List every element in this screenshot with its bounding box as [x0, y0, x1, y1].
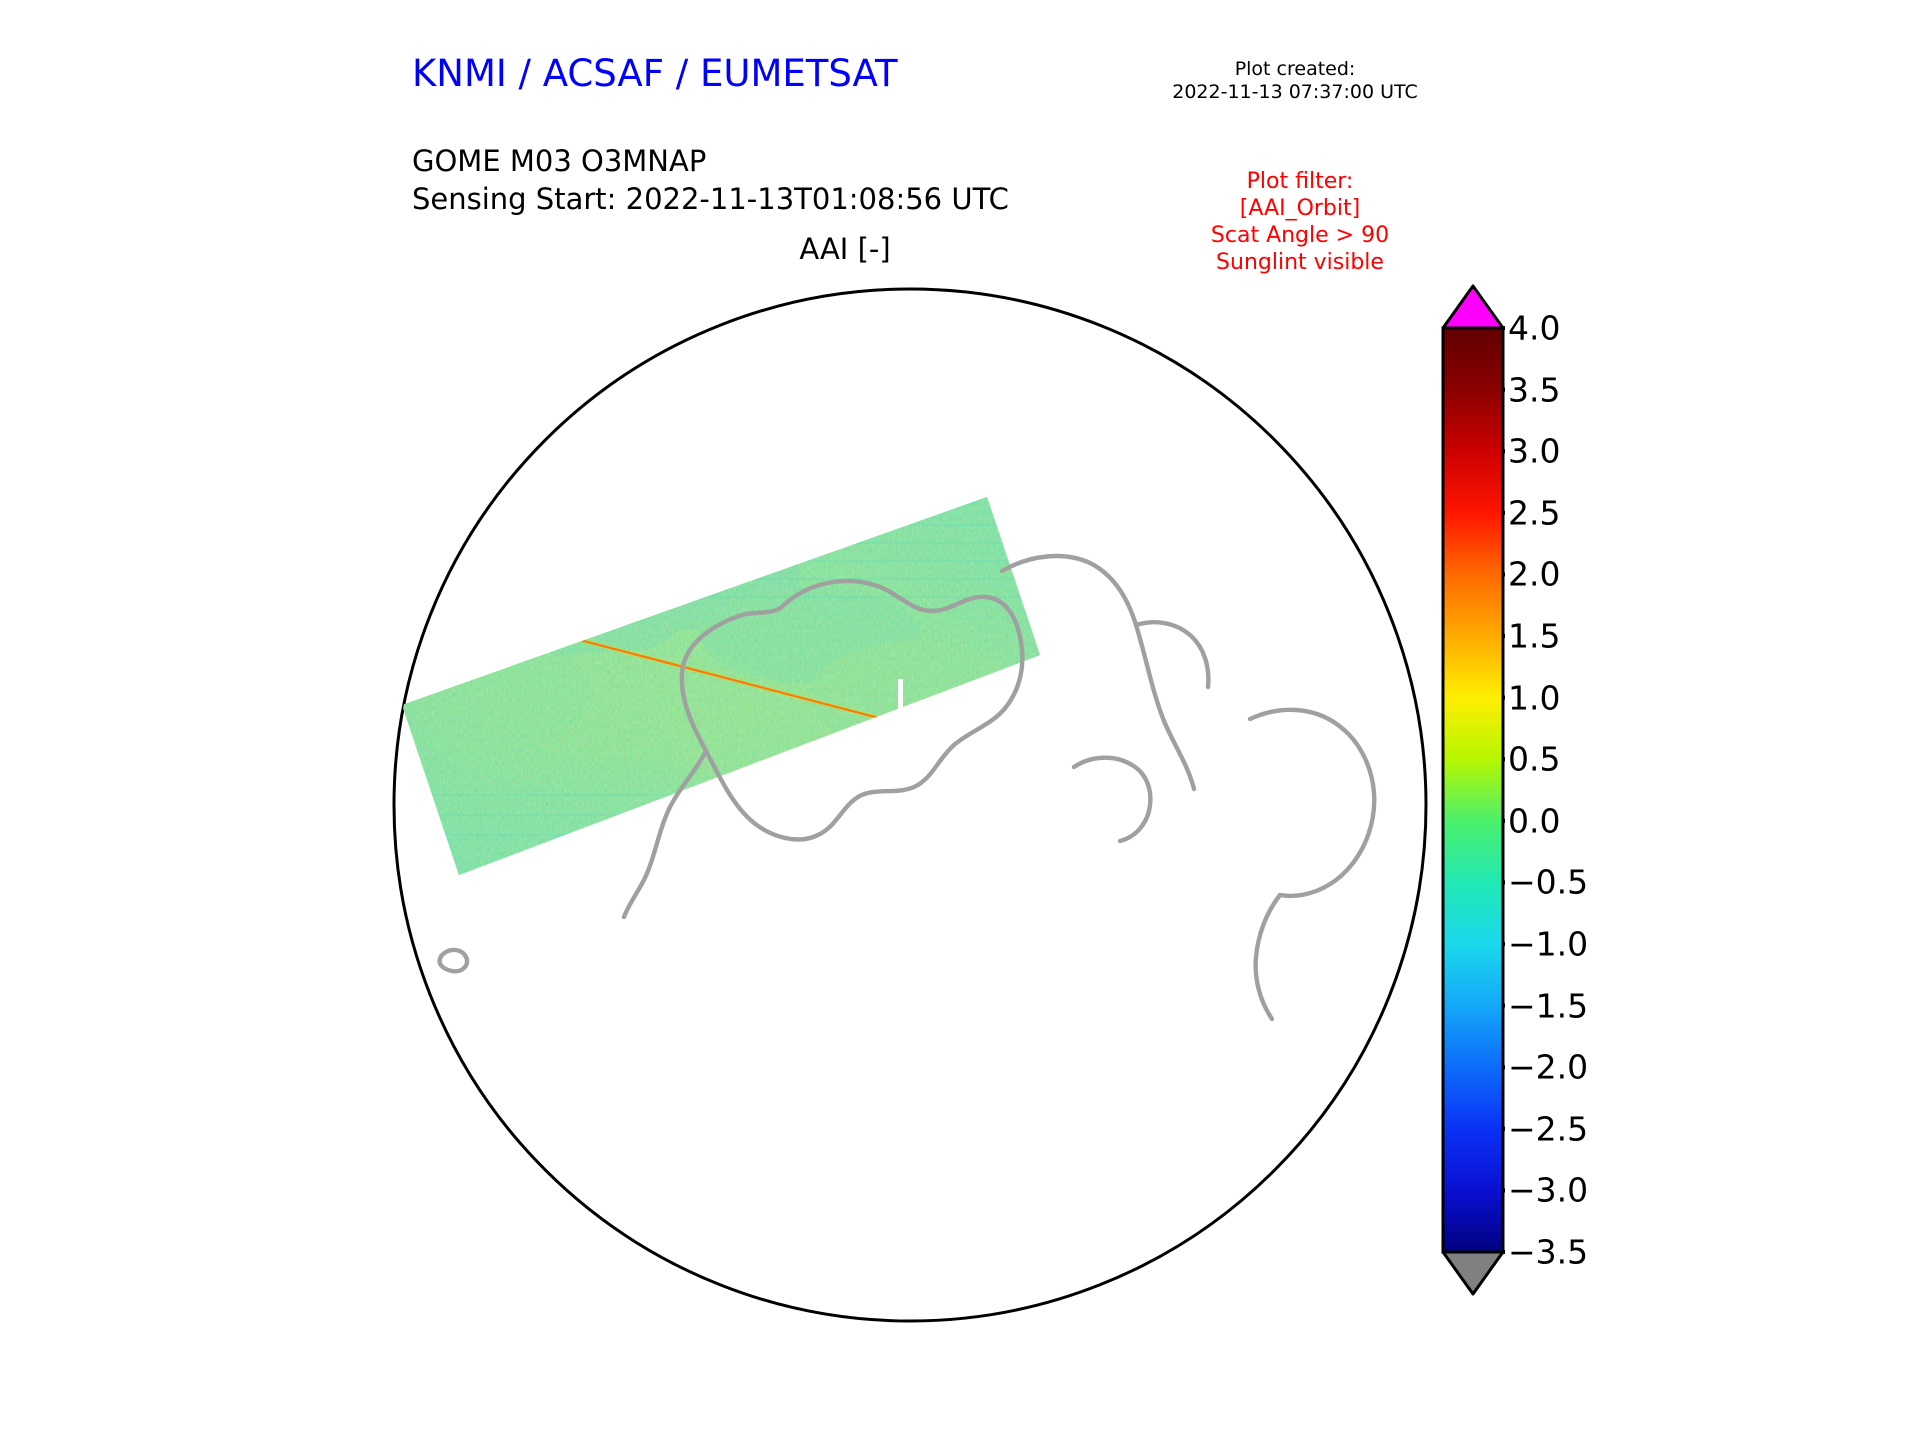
instrument-product-line: GOME M03 O3MNAP: [412, 142, 1009, 180]
filter-line-0: Plot filter:: [1150, 168, 1450, 195]
plot-created-timestamp: 2022-11-13 07:37:00 UTC: [1140, 81, 1450, 104]
organisation-title: KNMI / ACSAF / EUMETSAT: [412, 52, 898, 95]
cb-tick-10: −1.0: [1508, 928, 1588, 961]
cb-tick-13: −2.5: [1508, 1113, 1588, 1146]
cb-tick-5: 1.5: [1508, 620, 1560, 653]
colorbar-gradient: [1443, 328, 1503, 1252]
map-plot-area: [380, 275, 1440, 1335]
plot-page: KNMI / ACSAF / EUMETSAT Plot created: 20…: [0, 0, 1920, 1440]
cb-tick-12: −2.0: [1508, 1051, 1588, 1084]
plot-created-block: Plot created: 2022-11-13 07:37:00 UTC: [1140, 58, 1450, 104]
cb-tick-9: −0.5: [1508, 866, 1588, 899]
colorbar-svg: [1435, 280, 1505, 1300]
cb-tick-2: 3.0: [1508, 435, 1560, 468]
cb-tick-0: 4.0: [1508, 312, 1560, 345]
cb-tick-15: −3.5: [1508, 1236, 1588, 1269]
dataset-metadata: GOME M03 O3MNAP Sensing Start: 2022-11-1…: [412, 142, 1009, 218]
colorbar-over-arrow: [1443, 286, 1503, 328]
filter-line-1: [AAI_Orbit]: [1150, 195, 1450, 222]
sensing-start-line: Sensing Start: 2022-11-13T01:08:56 UTC: [412, 180, 1009, 218]
colorbar: [1435, 280, 1505, 1300]
cb-tick-4: 2.0: [1508, 558, 1560, 591]
cb-tick-14: −3.0: [1508, 1174, 1588, 1207]
cb-tick-3: 2.5: [1508, 497, 1560, 530]
colorbar-under-arrow: [1443, 1252, 1503, 1294]
colorbar-tick-labels: 4.0 3.5 3.0 2.5 2.0 1.5 1.0 0.5 0.0 −0.5…: [1508, 280, 1668, 1300]
cb-tick-1: 3.5: [1508, 374, 1560, 407]
polar-map: [380, 275, 1440, 1335]
plot-filter-block: Plot filter: [AAI_Orbit] Scat Angle > 90…: [1150, 168, 1450, 276]
cb-tick-7: 0.5: [1508, 743, 1560, 776]
plot-created-label: Plot created:: [1140, 58, 1450, 81]
filter-line-2: Scat Angle > 90: [1150, 222, 1450, 249]
filter-line-3: Sunglint visible: [1150, 249, 1450, 276]
cb-tick-11: −1.5: [1508, 990, 1588, 1023]
cb-tick-6: 1.0: [1508, 682, 1560, 715]
cb-tick-8: 0.0: [1508, 805, 1560, 838]
